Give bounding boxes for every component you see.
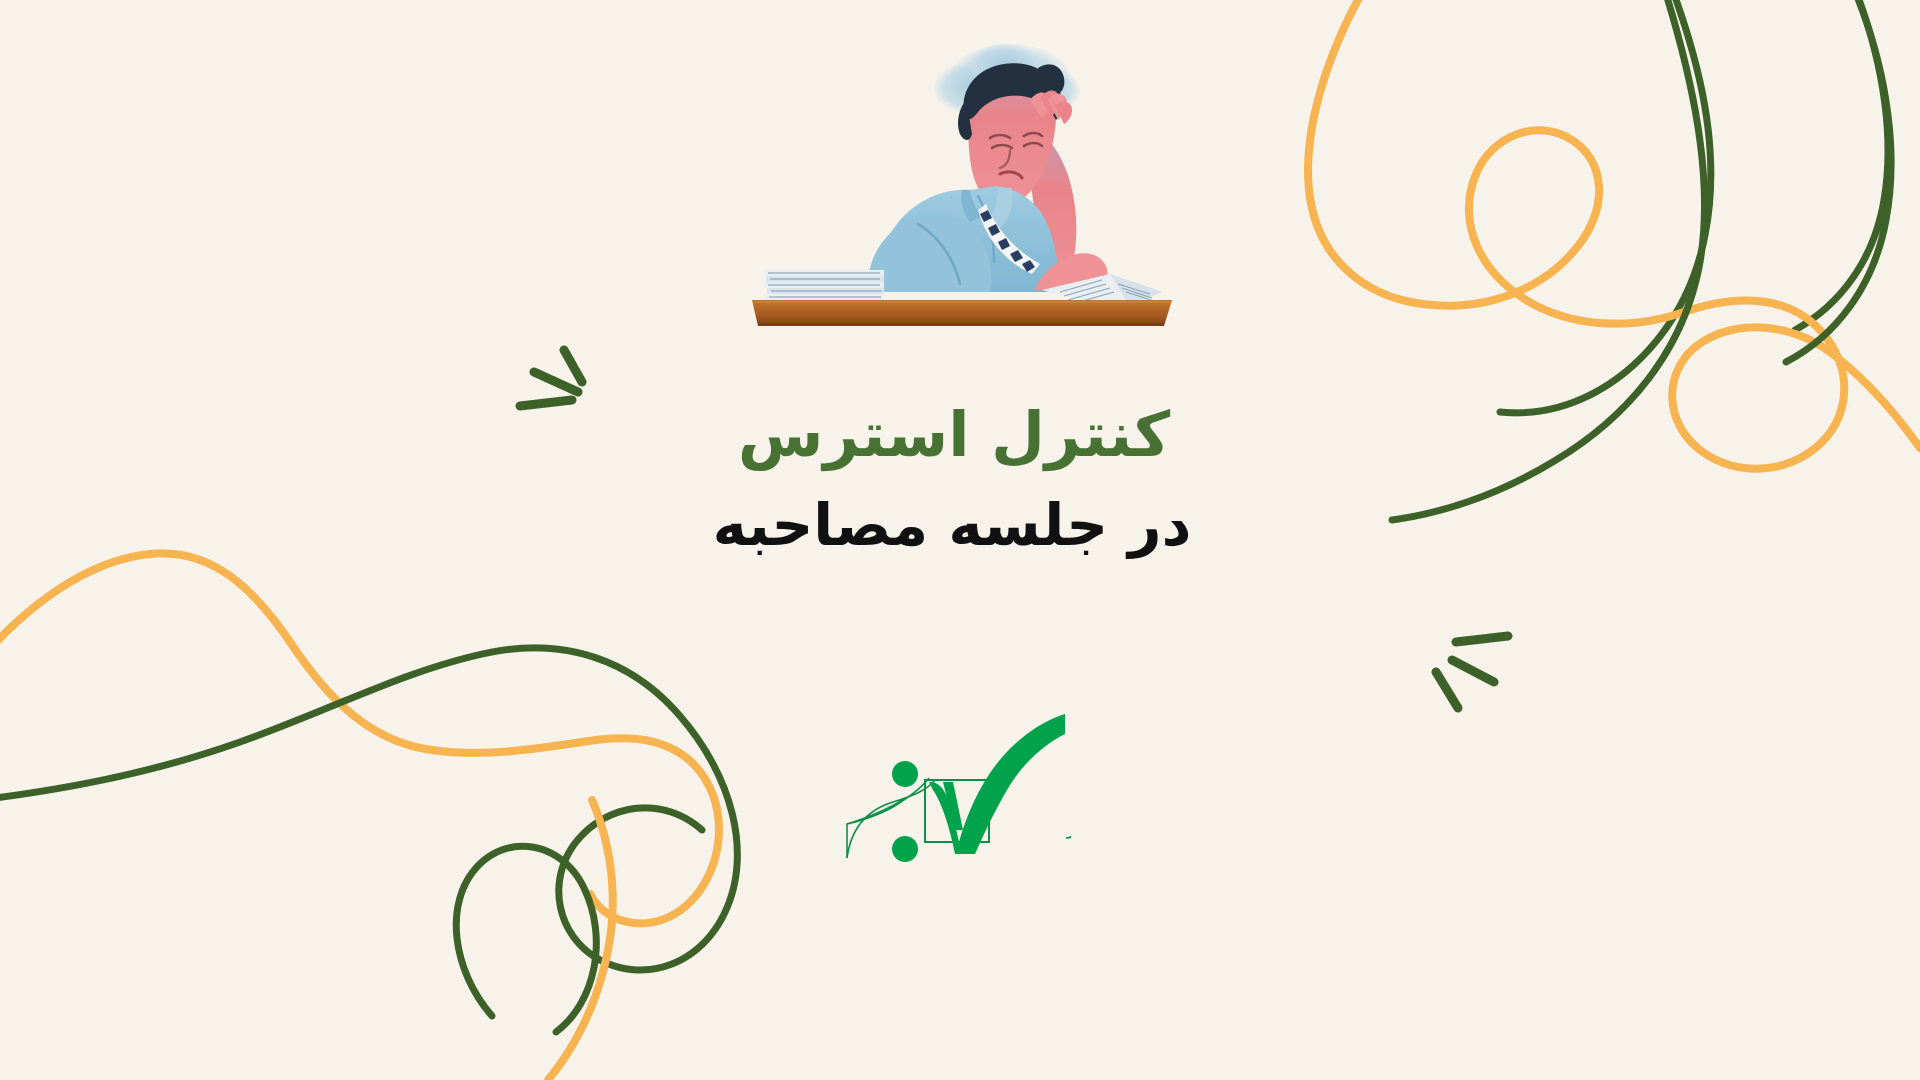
stack-of-papers: [764, 270, 884, 300]
dash-icon: [534, 372, 578, 392]
dash-icon: [564, 350, 582, 382]
poster-canvas: کنترل استرس در جلسه مصاحبه انتخاب سبز: [0, 0, 1920, 1080]
logo-dot-bottom: [892, 836, 918, 862]
right-dash-accent: [1436, 636, 1508, 708]
dash-icon: [1452, 660, 1494, 682]
top-right-green-edge-curve: [1786, 0, 1891, 362]
left-dash-accent: [520, 350, 582, 406]
stressed-man-at-desk-illustration: [742, 38, 1182, 330]
top-right-orange-squiggle: [1308, 0, 1920, 469]
wooden-desk: [752, 300, 1172, 326]
dash-icon: [1436, 672, 1458, 708]
dash-icon: [1456, 636, 1508, 642]
entekhab-sabz-logo[interactable]: انتخاب سبز: [843, 712, 1071, 862]
logo-dot-top: [892, 761, 918, 787]
page-title: کنترل استرس در جلسه مصاحبه: [0, 400, 1920, 561]
logo-brand-text: انتخاب سبز: [1066, 815, 1071, 839]
title-line-primary: کنترل استرس: [0, 400, 1914, 469]
title-line-secondary: در جلسه مصاحبه: [0, 491, 1912, 561]
logo-curve-base: [847, 798, 905, 824]
